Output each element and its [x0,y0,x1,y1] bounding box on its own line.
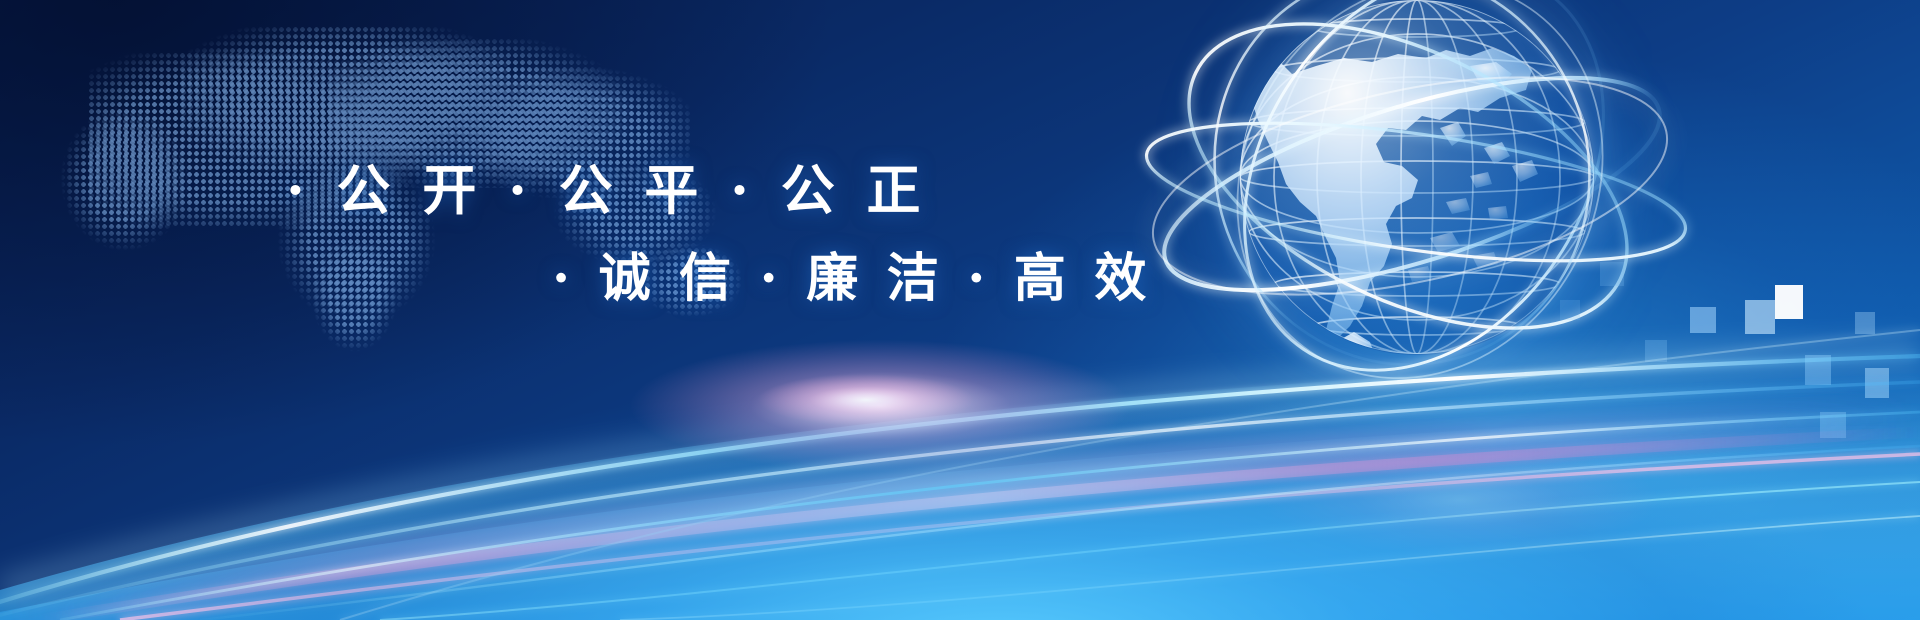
headline-block: · 公 开 · 公 平 · 公 正 · 诚 信 · 廉 洁 · 高 效 [0,0,1140,400]
banner-root: · 公 开 · 公 平 · 公 正 · 诚 信 · 廉 洁 · 高 效 [0,0,1920,620]
headline-line-1: · 公 开 · 公 平 · 公 正 [286,146,927,225]
headline-line-2: · 诚 信 · 廉 洁 · 高 效 [552,236,1152,311]
